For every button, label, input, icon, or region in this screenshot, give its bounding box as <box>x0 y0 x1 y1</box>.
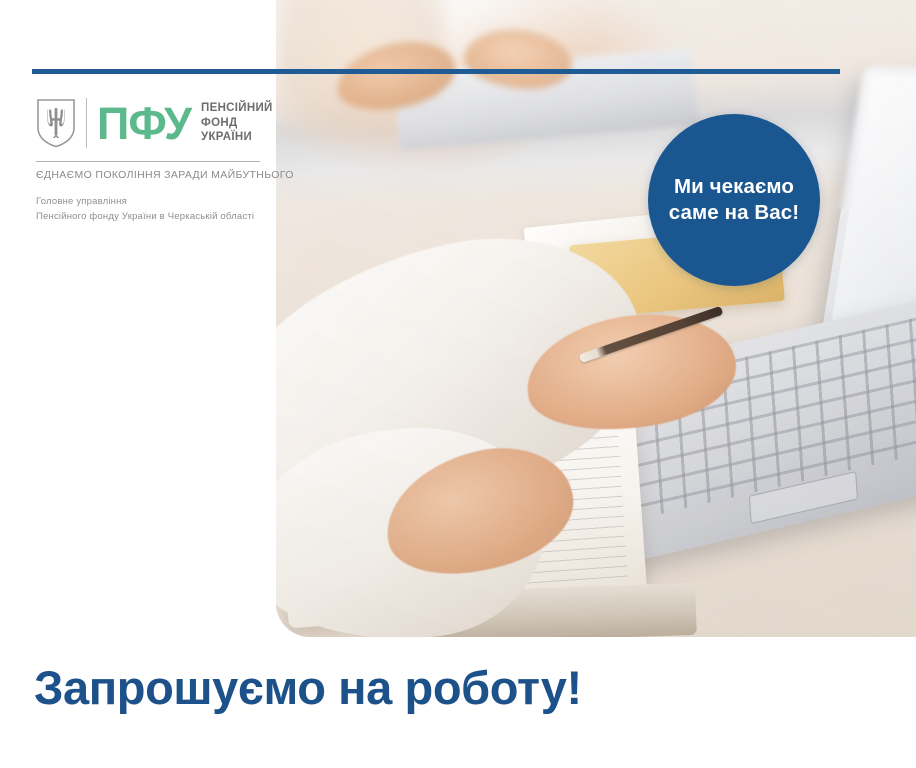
department-line-1: Головне управління <box>36 196 127 207</box>
logo-row: ПФУ ПЕНСІЙНИЙ ФОНД УКРАЇНИ <box>36 98 264 148</box>
badge-line-2: саме на Вас! <box>669 201 799 224</box>
badge-text: Ми чекаємо саме на Вас! <box>655 174 813 226</box>
department-name: Головне управління Пенсійного фонду Укра… <box>36 195 264 224</box>
ukraine-trident-shield-emblem <box>36 98 76 148</box>
department-line-2: Пенсійного фонду України в Черкаській об… <box>36 211 254 222</box>
pension-fund-logo-block: ПФУ ПЕНСІЙНИЙ ФОНД УКРАЇНИ ЄДНАЄМО ПОКОЛ… <box>36 98 264 224</box>
office-desk-laptop-photo <box>276 0 916 637</box>
logo-name-line-2: ФОНД <box>201 117 237 129</box>
logo-vertical-divider <box>86 98 87 148</box>
logo-name-line-1: ПЕНСІЙНИЙ <box>201 102 273 114</box>
logo-slogan: ЄДНАЄМО ПОКОЛІННЯ ЗАРАДИ МАЙБУТНЬОГО <box>36 169 264 181</box>
logo-abbreviation: ПФУ <box>97 101 191 146</box>
page-title: Запрошуємо на роботу! <box>34 660 582 715</box>
logo-separator-line <box>36 161 260 162</box>
recruitment-poster: Ми чекаємо саме на Вас! <box>0 0 916 768</box>
we-are-waiting-badge: Ми чекаємо саме на Вас! <box>648 114 820 286</box>
logo-name-line-3: УКРАЇНИ <box>201 131 252 143</box>
badge-line-1: Ми чекаємо <box>674 175 794 198</box>
logo-full-name: ПЕНСІЙНИЙ ФОНД УКРАЇНИ <box>201 101 273 145</box>
horizontal-divider-rule <box>32 69 840 74</box>
